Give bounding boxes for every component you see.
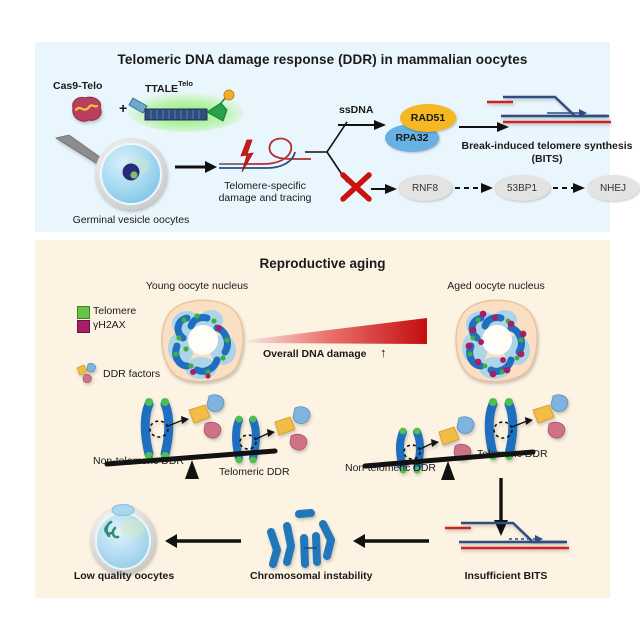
ttale-construct-icon [127,90,245,132]
arrow-instability-to-oocyte [165,534,241,548]
cas9-telo-label: Cas9-Telo [53,80,102,92]
balance-aged-left-label: Non-telomeric DDR [345,462,436,474]
ttale-label-superscript: Telo [178,79,193,88]
aged-nucleus-label: Aged oocyte nucleus [421,280,571,292]
legend-swatch-gh2ax [77,320,90,333]
ddr-factors-legend-icon [75,362,101,386]
blocked-branch-cross-icon [335,170,397,204]
bits-dloop-icon [483,92,613,138]
aged-oocyte-nucleus-icon [447,294,543,386]
dashed-arrow-rnf8-to-53bp1 [455,181,493,195]
overall-dna-damage-up-arrow: ↑ [380,345,387,360]
germinal-vesicle-oocyte-icon [93,136,169,212]
balance-aged-right-label: Telomeric DDR [477,448,548,460]
telomere-damage-label-line2: damage and tracing [219,192,312,204]
young-oocyte-nucleus-icon [153,294,249,386]
panel-top-title: Telomeric DNA damage response (DDR) in m… [35,52,610,67]
bits-label: Break-induced telomere synthesis (BITS) [431,140,640,166]
legend-label-telomere: Telomere [93,305,136,317]
bits-label-line2: (BITS) [532,153,563,165]
arrow-bits-to-instability [353,534,429,548]
ssdna-label: ssDNA [339,104,373,116]
overall-dna-damage-label: Overall DNA damage [263,348,366,360]
bits-label-line1: Break-induced telomere synthesis [462,140,633,152]
figure-canvas: Telomeric DNA damage response (DDR) in m… [0,0,640,640]
panel-telomeric-ddr: Telomeric DNA damage response (DDR) in m… [35,42,610,232]
ddr-factors-label: DDR factors [103,368,160,380]
panel-bottom-title: Reproductive aging [35,256,610,271]
germinal-vesicle-oocyte-label: Germinal vesicle oocytes [57,214,205,226]
balance-young-right-label: Telomeric DDR [219,466,290,478]
balance-aged [345,390,595,492]
pill-rnf8: RNF8 [398,175,452,201]
balance-young-left-label: Non-telomeric DDR [93,455,184,467]
dashed-arrow-53bp1-to-nhej [553,181,585,195]
arrow-oocyte-to-damage [175,160,217,174]
telomere-tloop-damage-icon [217,134,313,182]
chromosomal-instability-icon [261,506,347,570]
pill-53bp1: 53BP1 [494,175,550,201]
panel-reproductive-aging: Reproductive aging Young oocyte nucleus [35,240,610,598]
insufficient-bits-label: Insufficient BITS [441,570,571,582]
plus-sign: + [119,100,127,116]
balance-young [87,384,337,492]
overall-dna-damage-wedge [247,314,427,348]
pill-nhej: NHEJ [587,175,639,201]
low-quality-oocytes-label: Low quality oocytes [71,570,177,582]
telomere-damage-label-line1: Telomere-specific [224,180,306,192]
insufficient-bits-icon [441,518,571,564]
young-nucleus-label: Young oocyte nucleus [127,280,267,292]
low-quality-oocyte-icon [85,502,161,574]
legend-label-gh2ax: γH2AX [93,319,126,331]
rad51-oval: RAD51 [400,104,456,132]
cas9-protein-icon [65,94,107,124]
chromosomal-instability-label: Chromosomal instability [250,570,362,582]
legend-swatch-telomere [77,306,90,319]
arrow-to-hr-factors [338,118,386,132]
